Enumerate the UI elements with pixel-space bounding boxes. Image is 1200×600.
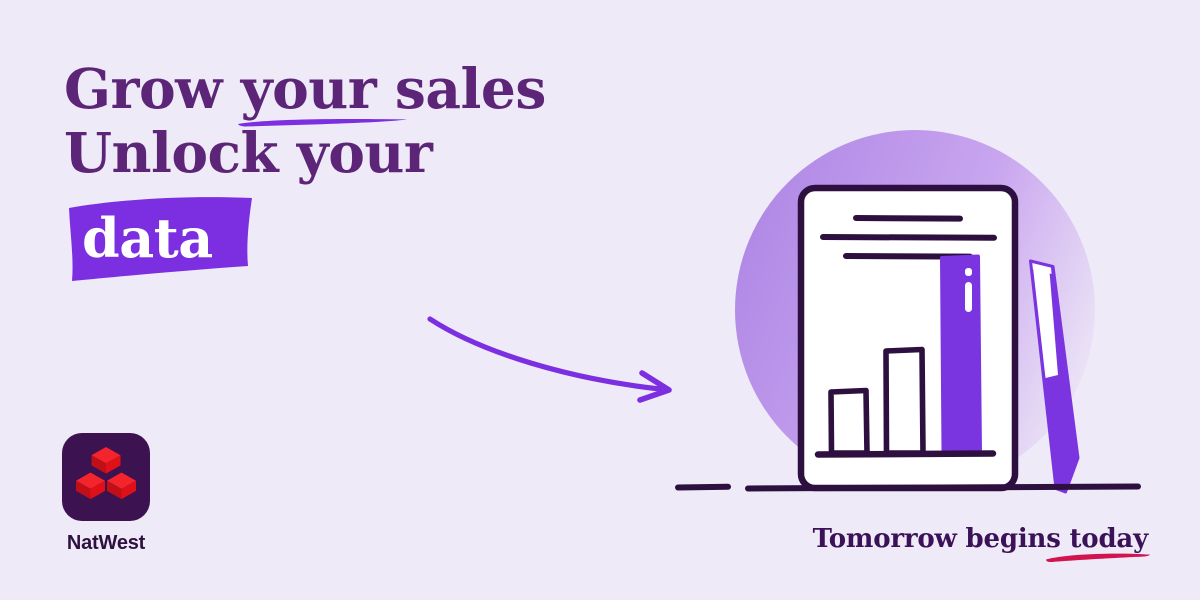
tagline-text-before: Tomorrow begins (813, 524, 1070, 554)
hand-drawn-underline-icon (1044, 550, 1152, 564)
document-text-line-2 (823, 237, 994, 238)
document-sheet-icon (801, 188, 1015, 488)
natwest-logo-block: NatWest (62, 433, 172, 555)
headline-highlight-word: data (62, 192, 262, 284)
natwest-triple-cube-icon (62, 433, 150, 521)
headline-emphasis-your: your (241, 58, 377, 120)
ground-line-icon (678, 487, 1138, 489)
chart-baseline (818, 454, 993, 455)
headline-line-2: Unlock your (64, 122, 682, 184)
headline-line-1: Grow your sales (64, 58, 682, 120)
headline-highlight-block: data (62, 192, 262, 284)
headline-line-1-after: sales (376, 56, 546, 121)
bar-2 (886, 350, 923, 454)
headline-line-1-before: Grow (64, 56, 241, 121)
headline-emphasis-word: your (241, 56, 377, 121)
logo-name: NatWest (62, 532, 150, 555)
bar-1 (831, 391, 867, 454)
bar-3 (942, 257, 980, 454)
tagline-text: Tomorrow begins today (813, 524, 1148, 554)
document-text-line-1 (856, 218, 960, 219)
headline-block: Grow your sales Unlock your data (62, 58, 682, 284)
logo-tile (62, 433, 150, 521)
bar-highlight-notch (965, 268, 972, 276)
tagline-block: Tomorrow begins today (813, 524, 1148, 558)
bar-highlight-notch-long (965, 282, 972, 312)
curved-arrow-right-icon (420, 305, 690, 415)
marketing-banner: Grow your sales Unlock your data (0, 0, 1200, 600)
data-document-illustration (660, 120, 1170, 510)
